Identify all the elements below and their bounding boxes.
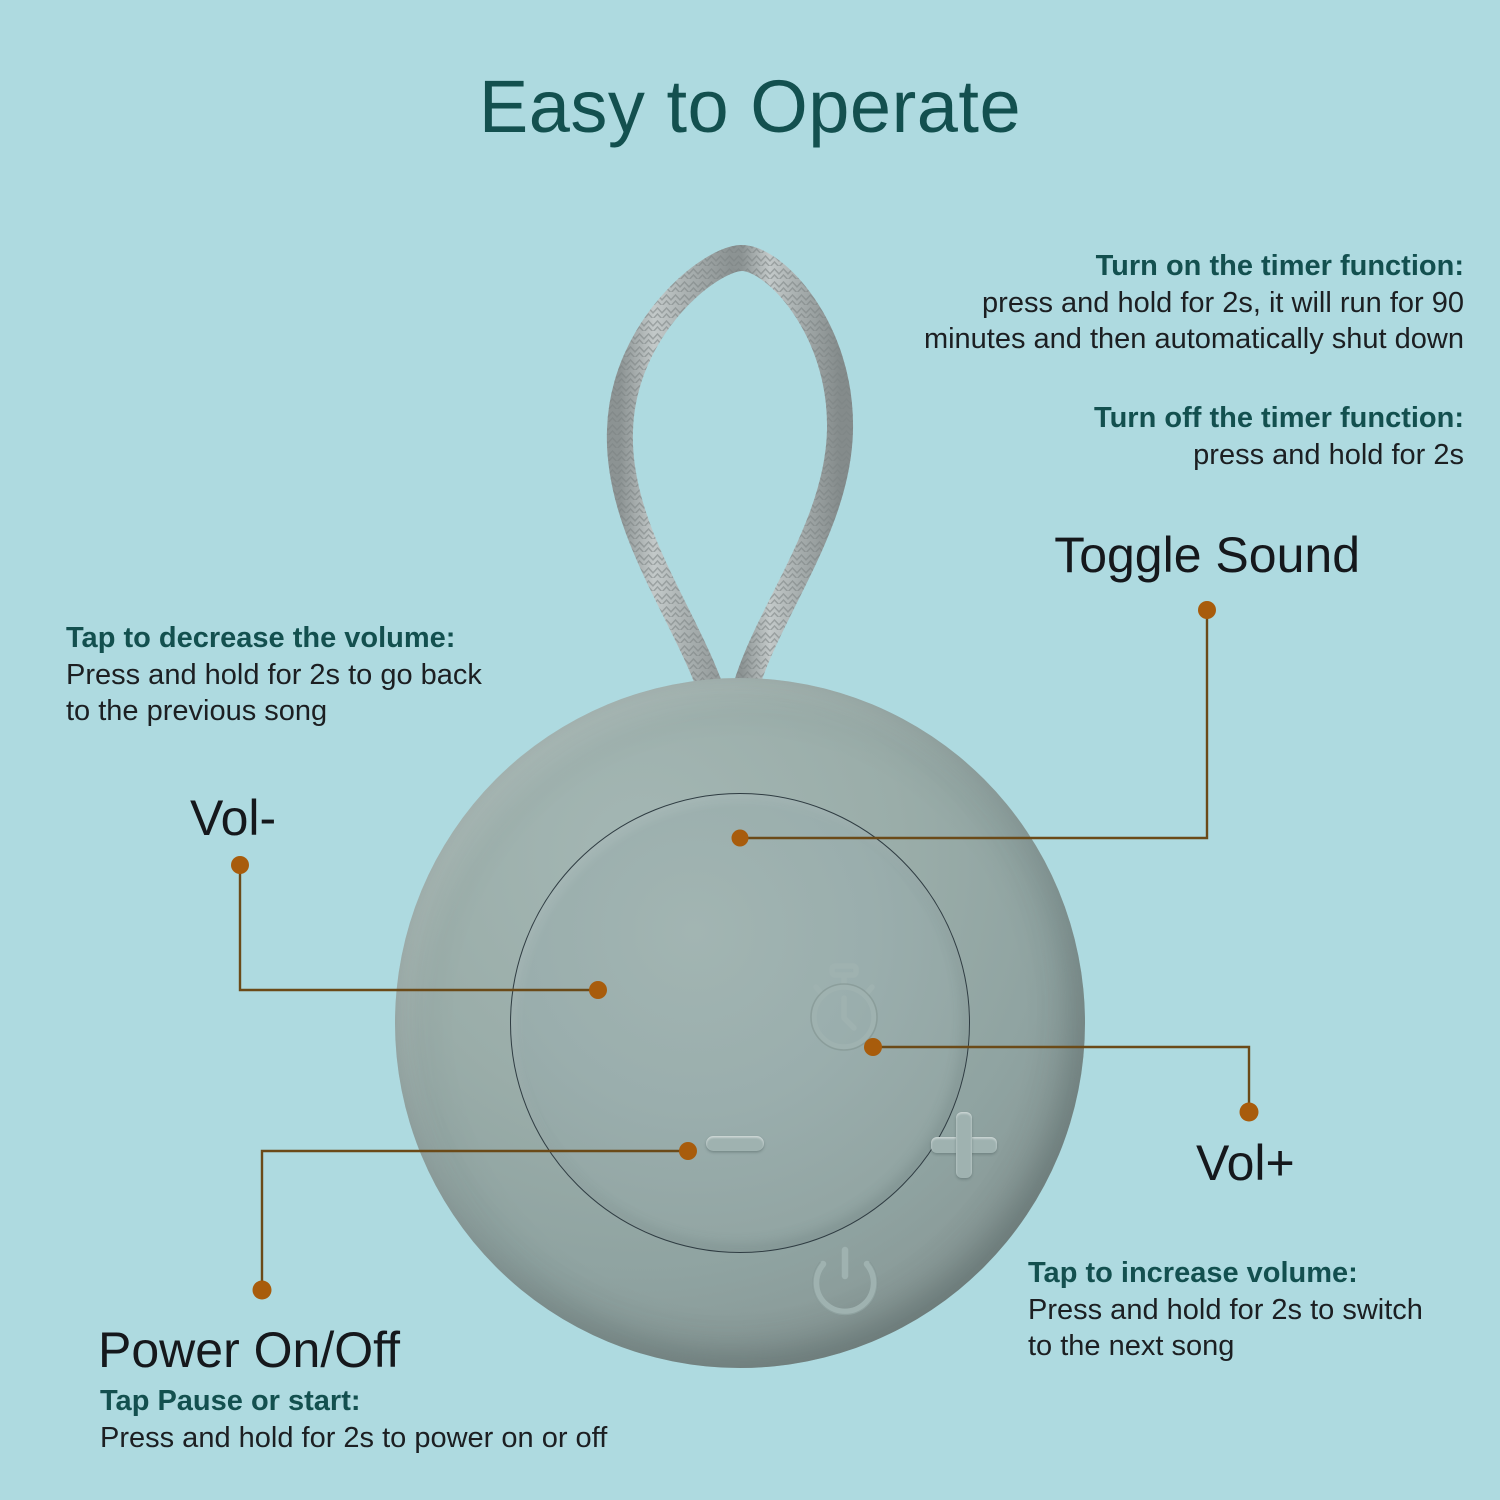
infographic-canvas: Easy to Operate: [0, 0, 1500, 1500]
callout-timer-on-body-1: press and hold for 2s, it will run for 9…: [844, 285, 1464, 322]
callout-timer-off-heading: Turn off the timer function:: [844, 400, 1464, 437]
label-vol-up: Vol+: [1196, 1138, 1295, 1188]
connector-dot-vol-down-label: [231, 856, 249, 874]
callout-vol-up-body-1: Press and hold for 2s to switch: [1028, 1292, 1488, 1329]
connector-dot-toggle-sound-label: [1198, 601, 1216, 619]
callout-timer-on: Turn on the timer function: press and ho…: [844, 248, 1464, 358]
power-icon[interactable]: [807, 1242, 883, 1322]
connector-dot-power-label: [253, 1281, 272, 1300]
callout-vol-up-heading: Tap to increase volume:: [1028, 1255, 1488, 1292]
minus-icon[interactable]: [706, 1136, 764, 1151]
callout-vol-up-body-2: to the next song: [1028, 1328, 1488, 1365]
callout-timer-on-body-2: minutes and then automatically shut down: [844, 321, 1464, 358]
callout-timer-off-body-1: press and hold for 2s: [844, 437, 1464, 474]
portable-speaker-device: [395, 678, 1085, 1368]
callout-timer-off: Turn off the timer function: press and h…: [844, 400, 1464, 473]
callout-power-heading: Tap Pause or start:: [100, 1383, 720, 1420]
plus-icon[interactable]: [931, 1112, 997, 1178]
stopwatch-icon[interactable]: [801, 962, 887, 1054]
callout-power-body-1: Press and hold for 2s to power on or off: [100, 1420, 720, 1457]
plus-icon-vertical-bar: [956, 1112, 972, 1178]
page-title: Easy to Operate: [0, 70, 1500, 144]
label-toggle-sound: Toggle Sound: [1054, 530, 1360, 580]
callout-vol-down-body-1: Press and hold for 2s to go back: [66, 657, 586, 694]
connector-dot-vol-up-label: [1240, 1103, 1259, 1122]
callout-timer-on-heading: Turn on the timer function:: [844, 248, 1464, 285]
callout-vol-down: Tap to decrease the volume: Press and ho…: [66, 620, 586, 730]
callout-power: Tap Pause or start: Press and hold for 2…: [100, 1383, 720, 1456]
callout-vol-down-heading: Tap to decrease the volume:: [66, 620, 586, 657]
callout-vol-down-body-2: to the previous song: [66, 693, 586, 730]
device-control-pad[interactable]: [510, 793, 970, 1253]
label-vol-down: Vol-: [190, 793, 276, 843]
label-power-on-off: Power On/Off: [98, 1325, 400, 1375]
callout-vol-up: Tap to increase volume: Press and hold f…: [1028, 1255, 1488, 1365]
